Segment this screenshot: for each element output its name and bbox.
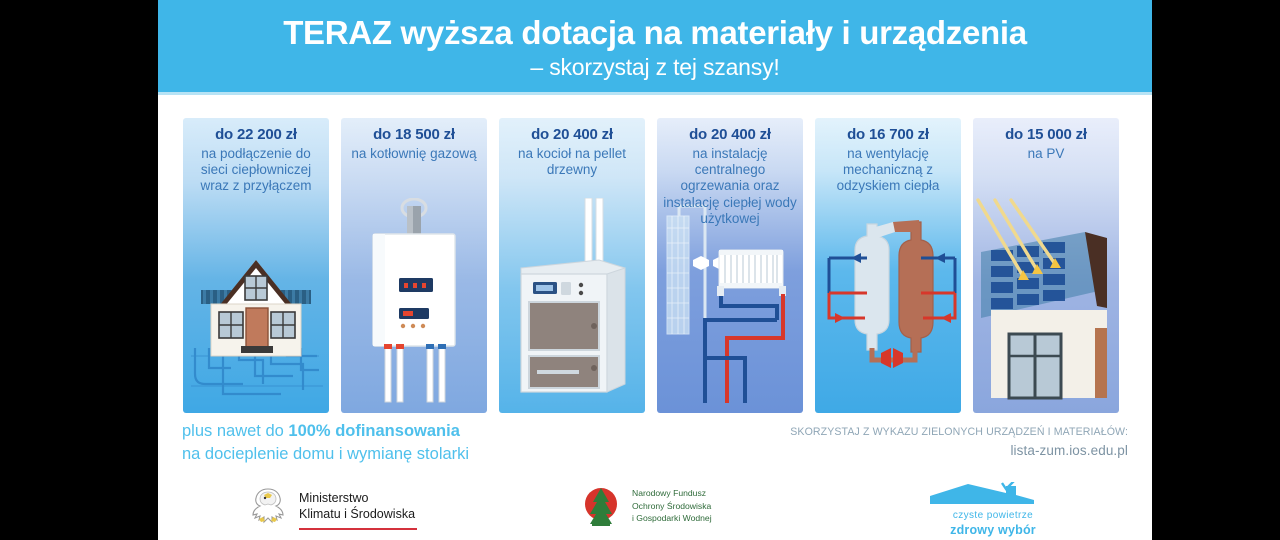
- header-title: TERAZ wyższa dotacja na materiały i urzą…: [283, 16, 1027, 51]
- ministry-line1: Ministerstwo: [299, 490, 415, 507]
- fund-line3: i Gospodarki Wodnej: [632, 512, 712, 525]
- house-district-heating-icon: [183, 198, 329, 413]
- ministry-name: Ministerstwo Klimatu i Środowiska: [299, 490, 415, 523]
- pellet-boiler-icon: [499, 198, 645, 413]
- grant-card-pellet-boiler[interactable]: do 20 400 zł na kocioł na pellet drzewny: [499, 118, 645, 413]
- program-line1: czyste powietrze: [928, 510, 1058, 523]
- radiator-shower-icon: [657, 198, 803, 413]
- fund-line2: Ochrony Środowiska: [632, 500, 712, 513]
- card-caption: do 15 000 zł na PV: [973, 126, 1119, 162]
- additional-funding-note: plus nawet do 100% dofinansowania na doc…: [182, 420, 612, 467]
- card-caption: do 16 700 zł na wentylację mechaniczną z…: [815, 126, 961, 195]
- heat-recovery-ventilation-icon: [815, 198, 961, 413]
- grant-card-gas-boiler[interactable]: do 18 500 zł na kotłownię gazową: [341, 118, 487, 413]
- nfosigw-name: Narodowy Fundusz Ochrony Środowiska i Go…: [632, 487, 712, 526]
- nfosigw-logo: Narodowy Fundusz Ochrony Środowiska i Go…: [578, 484, 712, 528]
- card-amount: do 15 000 zł: [977, 126, 1115, 144]
- card-description: na instalację centralnego ogrzewania ora…: [661, 146, 799, 227]
- ministry-rule: [299, 528, 417, 530]
- header-subtitle: – skorzystaj z tej szansy!: [530, 54, 779, 82]
- grant-card-photovoltaics[interactable]: do 15 000 zł na PV: [973, 118, 1119, 413]
- promo-prefix: plus nawet do: [182, 422, 288, 440]
- fund-line1: Narodowy Fundusz: [632, 487, 712, 500]
- green-list-url[interactable]: lista-zum.ios.edu.pl: [758, 441, 1128, 461]
- card-amount: do 22 200 zł: [187, 126, 325, 144]
- header-divider: [158, 92, 1152, 95]
- card-description: na kotłownię gazową: [345, 146, 483, 162]
- czyste-powietrze-logo: czyste powietrze zdrowy wybór: [928, 482, 1058, 540]
- card-description: na podłączenie do sieci ciepłowniczej wr…: [187, 146, 325, 195]
- green-list-caption: SKORZYSTAJ Z WYKAZU ZIELONYCH URZĄDZEŃ I…: [758, 424, 1128, 441]
- gas-boiler-icon: [341, 198, 487, 413]
- grant-card-central-heating[interactable]: do 20 400 zł na instalację centralnego o…: [657, 118, 803, 413]
- ministry-logo: Ministerstwo Klimatu i Środowiska: [246, 484, 415, 528]
- promo-highlight: 100% dofinansowania: [288, 422, 459, 440]
- slide-stage: TERAZ wyższa dotacja na materiały i urzą…: [0, 0, 1280, 540]
- card-caption: do 18 500 zł na kotłownię gazową: [341, 126, 487, 162]
- card-description: na kocioł na pellet drzewny: [503, 146, 641, 178]
- nfosigw-tree-icon: [578, 484, 624, 528]
- card-caption: do 20 400 zł na kocioł na pellet drzewny: [499, 126, 645, 178]
- ministry-line2: Klimatu i Środowiska: [299, 506, 415, 523]
- card-amount: do 20 400 zł: [661, 126, 799, 144]
- letterbox-left: [0, 0, 158, 540]
- promo-line2: na docieplenie domu i wymianę stolarki: [182, 443, 612, 466]
- infographic-slide: TERAZ wyższa dotacja na materiały i urzą…: [158, 0, 1152, 540]
- card-description: na wentylację mechaniczną z odzyskiem ci…: [819, 146, 957, 195]
- card-description: na PV: [977, 146, 1115, 162]
- letterbox-right: [1152, 0, 1280, 540]
- card-caption: do 20 400 zł na instalację centralnego o…: [657, 126, 803, 227]
- grant-card-district-heating[interactable]: do 22 200 zł na podłączenie do sieci cie…: [183, 118, 329, 413]
- photovoltaic-panel-icon: [973, 198, 1119, 413]
- card-amount: do 20 400 zł: [503, 126, 641, 144]
- green-list-link-block: SKORZYSTAJ Z WYKAZU ZIELONYCH URZĄDZEŃ I…: [758, 424, 1128, 461]
- card-amount: do 16 700 zł: [819, 126, 957, 144]
- program-line2: zdrowy wybór: [928, 523, 1058, 538]
- grant-cards: do 22 200 zł na podłączenie do sieci cie…: [158, 118, 1152, 413]
- grant-card-ventilation[interactable]: do 16 700 zł na wentylację mechaniczną z…: [815, 118, 961, 413]
- footer-logos: Ministerstwo Klimatu i Środowiska Narodo…: [158, 478, 1152, 540]
- house-roof-check-icon: [928, 482, 1036, 505]
- polish-eagle-icon: [246, 484, 290, 528]
- card-amount: do 18 500 zł: [345, 126, 483, 144]
- card-caption: do 22 200 zł na podłączenie do sieci cie…: [183, 126, 329, 195]
- header-banner: TERAZ wyższa dotacja na materiały i urzą…: [158, 0, 1152, 94]
